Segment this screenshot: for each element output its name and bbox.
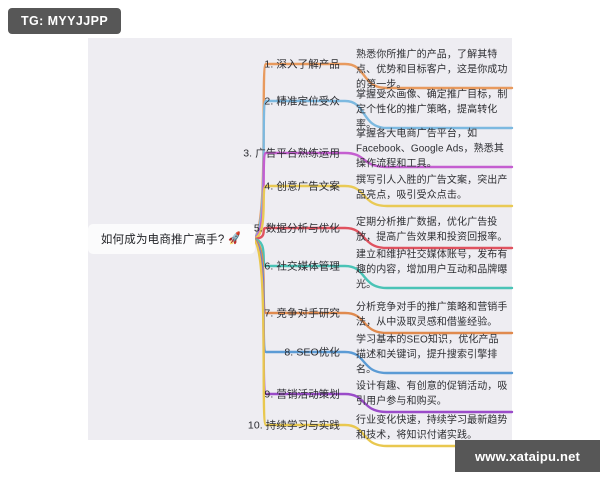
- branch-topic-label: 7. 竞争对手研究: [264, 308, 340, 320]
- branch-detail-4: 撰写引人入胜的广告文案，突出产品亮点，吸引受众点击。: [356, 173, 508, 203]
- watermark-label: www.xataipu.net: [475, 449, 580, 464]
- branch-topic-7[interactable]: 7. 竞争对手研究: [150, 306, 340, 321]
- branch-topic-6[interactable]: 6. 社交媒体管理: [150, 259, 340, 274]
- branch-detail-8: 学习基本的SEO知识，优化产品描述和关键词，提升搜索引擎排名。: [356, 333, 508, 378]
- branch-topic-label: 1. 深入了解产品: [264, 59, 340, 71]
- branch-detail-10: 行业变化快速，持续学习最新趋势和技术，将知识付诸实践。: [356, 413, 508, 443]
- branch-topic-label: 2. 精准定位受众: [264, 96, 340, 108]
- watermark-badge: www.xataipu.net: [455, 440, 600, 472]
- branch-topic-2[interactable]: 2. 精准定位受众: [150, 94, 340, 109]
- tg-badge-label: TG: MYYJJPP: [21, 14, 108, 28]
- mindmap-canvas: 如何成为电商推广高手? 🚀 1. 深入了解产品2. 精准定位受众3. 广告平台熟…: [0, 0, 600, 480]
- branch-topic-4[interactable]: 4. 创意广告文案: [150, 179, 340, 194]
- branch-topic-label: 4. 创意广告文案: [264, 181, 340, 193]
- branch-detail-7: 分析竞争对手的推广策略和营销手法，从中汲取灵感和借鉴经验。: [356, 300, 508, 330]
- branch-topic-8[interactable]: 8. SEO优化: [150, 345, 340, 360]
- branch-topic-label: 5. 数据分析与优化: [254, 223, 340, 235]
- branch-topic-label: 6. 社交媒体管理: [264, 261, 340, 273]
- branch-topic-label: 10. 持续学习与实践: [248, 420, 340, 432]
- branch-detail-6: 建立和维护社交媒体账号，发布有趣的内容，增加用户互动和品牌曝光。: [356, 248, 508, 293]
- branch-detail-1: 熟悉你所推广的产品，了解其特点、优势和目标客户，这是你成功的第一步。: [356, 48, 508, 93]
- branch-topic-5[interactable]: 5. 数据分析与优化: [150, 221, 340, 236]
- branch-topic-3[interactable]: 3. 广告平台熟练运用: [150, 146, 340, 161]
- branch-topic-10[interactable]: 10. 持续学习与实践: [150, 418, 340, 433]
- tg-badge: TG: MYYJJPP: [8, 8, 121, 34]
- branch-topic-label: 8. SEO优化: [284, 347, 340, 359]
- branch-topic-label: 3. 广告平台熟练运用: [243, 148, 340, 160]
- branch-detail-9: 设计有趣、有创意的促销活动，吸引用户参与和购买。: [356, 379, 508, 409]
- branch-detail-3: 掌握各大电商广告平台，如Facebook、Google Ads，熟悉其操作流程和…: [356, 127, 508, 172]
- branch-topic-9[interactable]: 9. 营销活动策划: [150, 387, 340, 402]
- branch-topic-label: 9. 营销活动策划: [264, 389, 340, 401]
- branch-detail-5: 定期分析推广数据，优化广告投放，提高广告效果和投资回报率。: [356, 215, 508, 245]
- branch-topic-1[interactable]: 1. 深入了解产品: [150, 57, 340, 72]
